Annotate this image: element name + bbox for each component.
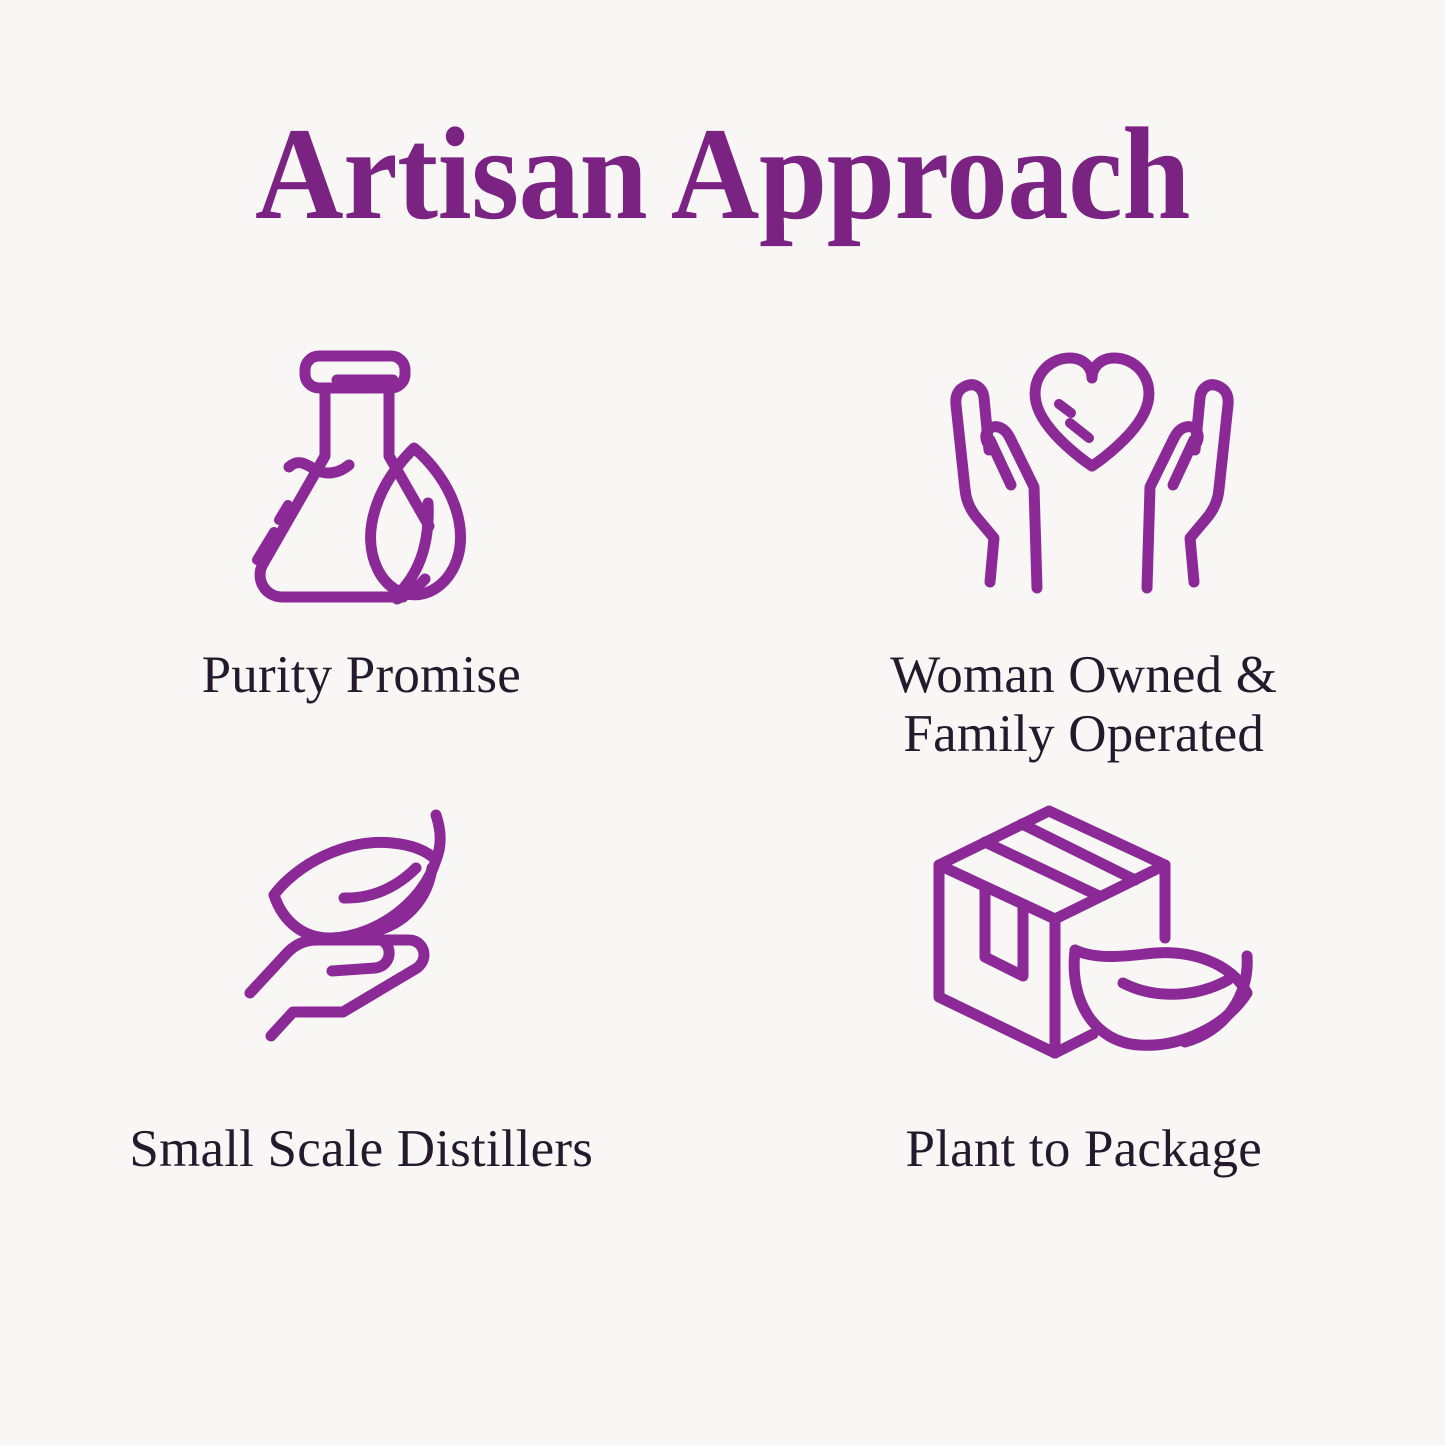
- feature-label-plant-to-package: Plant to Package: [906, 1120, 1262, 1179]
- hand-holding-leaf-icon-container: [236, 778, 486, 1078]
- hands-holding-heart-icon-container: [926, 328, 1242, 620]
- page-title: Artisan Approach: [51, 108, 1395, 240]
- hands-holding-heart-icon: [942, 340, 1242, 608]
- caption-line: Small Scale Distillers: [129, 1120, 593, 1179]
- feature-item-plant-to-package: Plant to Package: [723, 778, 1445, 1228]
- feature-label-small-scale-distillers: Small Scale Distillers: [129, 1120, 593, 1179]
- feature-item-woman-owned: Woman Owned & Family Operated: [723, 328, 1445, 778]
- feature-label-woman-owned: Woman Owned & Family Operated: [890, 646, 1277, 765]
- hand-holding-leaf-icon: [236, 803, 486, 1053]
- feature-grid: Purity Promise: [0, 328, 1445, 1228]
- caption-line: Woman Owned &: [890, 646, 1277, 705]
- caption-line: Plant to Package: [906, 1120, 1262, 1179]
- artisan-approach-infographic: Artisan Approach: [0, 0, 1445, 1445]
- box-leaf-icon-container: [911, 778, 1257, 1078]
- flask-leaf-icon-container: [231, 328, 491, 620]
- feature-item-small-scale-distillers: Small Scale Distillers: [0, 778, 723, 1228]
- caption-line: Family Operated: [890, 705, 1277, 764]
- feature-item-purity-promise: Purity Promise: [0, 328, 723, 778]
- feature-label-purity-promise: Purity Promise: [202, 646, 521, 705]
- page-title-container: Artisan Approach: [0, 108, 1445, 248]
- flask-leaf-icon: [241, 334, 491, 614]
- box-leaf-icon: [927, 803, 1257, 1053]
- caption-line: Purity Promise: [202, 646, 521, 705]
